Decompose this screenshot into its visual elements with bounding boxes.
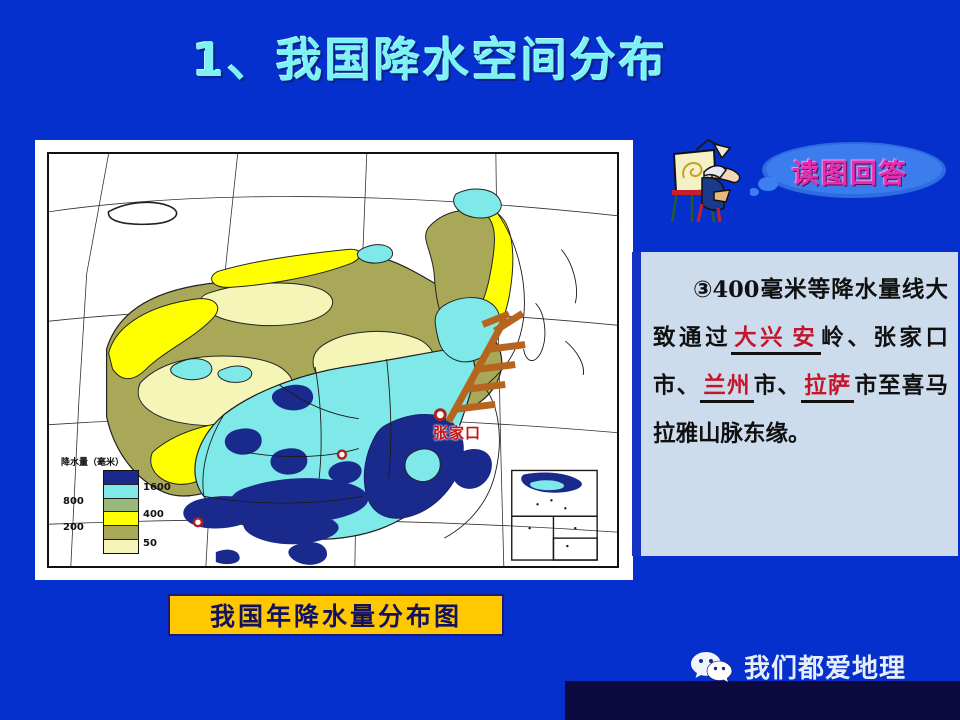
question-blank-an[interactable]: 安 bbox=[789, 325, 821, 355]
question-panel: ③400毫米等降水量线大致通过大兴安岭、张家口市、兰州市、拉萨市至喜马拉雅山脉东… bbox=[632, 252, 958, 556]
map-label-zhangjiakou: 张家口 bbox=[433, 422, 481, 443]
question-part1: 400毫米等降 bbox=[712, 277, 854, 303]
china-precipitation-map bbox=[49, 154, 617, 566]
question-part4: 市、 bbox=[754, 373, 801, 399]
footer-bar bbox=[565, 681, 960, 720]
speech-bubble: 读图回答 bbox=[750, 140, 950, 202]
question-part5: 市至 bbox=[854, 373, 901, 399]
wechat-icon bbox=[690, 650, 734, 684]
speech-bubble-text: 读图回答 bbox=[750, 140, 950, 202]
question-blank-lanzhou[interactable]: 兰州 bbox=[700, 373, 753, 403]
watermark: 我们都爱地理 bbox=[690, 648, 906, 685]
artist-easel-clipart bbox=[668, 138, 748, 224]
page-title: 1、我国降水空间分布 bbox=[0, 24, 860, 90]
map-frame: 张家口 降水量（毫米） 1600 800 400 200 bbox=[47, 152, 619, 568]
question-blank-daxing[interactable]: 大兴 bbox=[731, 325, 789, 355]
watermark-text: 我们都爱地理 bbox=[744, 648, 906, 685]
slide-root: 1、我国降水空间分布 bbox=[0, 0, 960, 720]
precipitation-map-card[interactable]: 张家口 降水量（毫米） 1600 800 400 200 bbox=[35, 140, 633, 580]
question-text: ③400毫米等降水量线大致通过大兴安岭、张家口市、兰州市、拉萨市至喜马拉雅山脉东… bbox=[653, 266, 948, 458]
question-marker: ③ bbox=[693, 266, 712, 314]
question-blank-lasa[interactable]: 拉萨 bbox=[801, 373, 854, 403]
map-caption: 我国年降水量分布图 bbox=[168, 594, 504, 636]
